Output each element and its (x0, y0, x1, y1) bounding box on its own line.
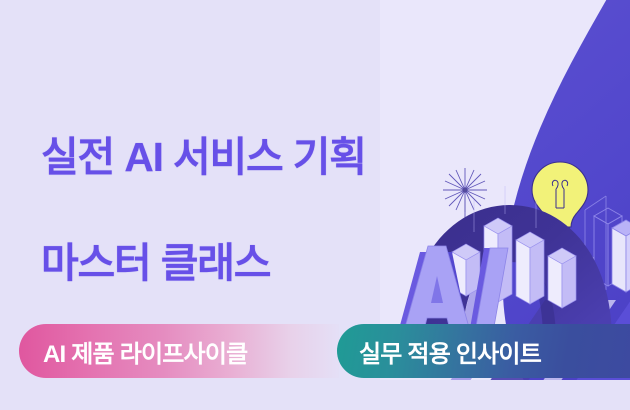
headline-line-1: 실전 AI 서비스 기획 (41, 131, 366, 184)
badge-label: 실무 적용 인사이트 (359, 334, 541, 369)
badge-practical-insight: 실무 적용 인사이트 (337, 324, 630, 378)
headline-line-2: 마스터 클래스 (41, 237, 366, 290)
banner-headline: 실전 AI 서비스 기획 마스터 클래스 (41, 78, 366, 343)
promo-banner: 실전 AI 서비스 기획 마스터 클래스 AI 제품 라이프사이클 실무 적용 … (0, 0, 630, 410)
badge-ai-product-lifecycle: AI 제품 라이프사이클 (19, 324, 339, 378)
bottom-strip (0, 380, 630, 410)
badge-label: AI 제품 라이프사이클 (43, 334, 247, 369)
badge-row: AI 제품 라이프사이클 실무 적용 인사이트 (0, 324, 630, 380)
